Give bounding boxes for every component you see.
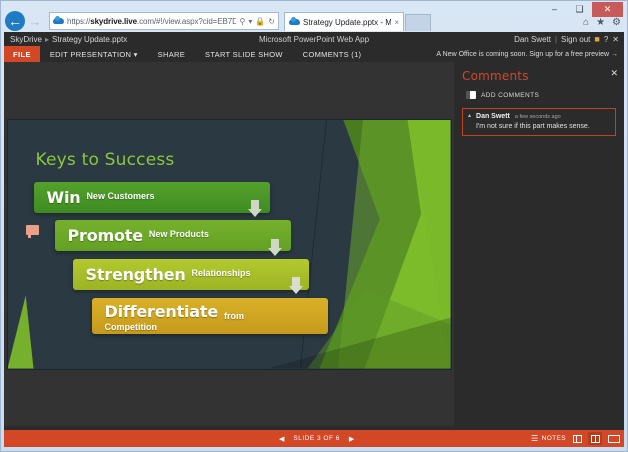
browser-nav-buttons: ← → [5, 11, 45, 31]
window-frame: – ❑ ✕ ← → https://skydrive.live.com/#!/v… [0, 0, 628, 452]
editing-view-icon [573, 435, 582, 443]
reading-view-button[interactable] [588, 432, 602, 445]
browser-window: – ❑ ✕ ← → https://skydrive.live.com/#!/v… [0, 0, 628, 452]
search-icon[interactable]: ⚲ [239, 17, 245, 26]
bar-headline: Strengthen [86, 265, 186, 284]
slide-bar-strengthen: Strengthen Relationships [73, 259, 309, 290]
previous-slide-icon[interactable]: ◀ [279, 435, 284, 443]
comment-marker-icon[interactable] [26, 225, 39, 235]
comments-panel-title: Comments [462, 69, 529, 83]
ribbon-item-edit-presentation[interactable]: EDIT PRESENTATION ▾ [40, 46, 148, 62]
next-slide-icon[interactable]: ▶ [349, 435, 354, 443]
flow-arrow-3-icon [289, 277, 303, 294]
slide-bar-promote: Promote New Products [55, 220, 291, 251]
slide-canvas[interactable]: Keys to Success Win New Customers Promot… [8, 120, 451, 369]
notes-icon: ☰ [531, 434, 539, 443]
comments-panel: Comments ✕ ADD COMMENTS ▴ Dan Swett a fe… [454, 62, 624, 426]
slide-bar-win: Win New Customers [34, 182, 270, 213]
user-area: Dan Swett | Sign out ■ ? ✕ [514, 34, 619, 44]
notes-label: NOTES [542, 435, 566, 442]
add-comment-icon [466, 91, 476, 99]
ribbon-item-comments[interactable]: COMMENTS (1) [293, 46, 372, 62]
ribbon-item-start-slide-show[interactable]: START SLIDE SHOW [195, 46, 293, 62]
bar-detail: from [224, 311, 244, 321]
slide-navigation: ◀ SLIDE 3 OF 6 ▶ [279, 435, 354, 443]
bar-detail: New Customers [86, 191, 154, 201]
person-icon[interactable]: ■ [594, 34, 599, 44]
home-icon[interactable]: ⌂ [583, 17, 589, 28]
browser-titlebar: – ❑ ✕ ← → https://skydrive.live.com/#!/v… [1, 1, 627, 33]
tab-favicon-icon [289, 17, 300, 27]
close-window-button[interactable]: ✕ [592, 2, 623, 17]
chevron-down-icon[interactable]: ▾ [248, 17, 252, 26]
forward-arrow-icon[interactable]: → [25, 11, 45, 31]
back-arrow-icon[interactable]: ← [5, 11, 25, 31]
slide-show-view-button[interactable] [606, 432, 620, 445]
bar-headline: Promote [68, 226, 143, 245]
lock-icon: 🔒 [255, 17, 265, 26]
site-cloud-icon [53, 16, 64, 26]
comment-author: Dan Swett [476, 113, 510, 120]
collapse-triangle-icon[interactable]: ▴ [468, 112, 471, 119]
decor-green-shape-left [8, 296, 34, 369]
comment-timestamp: a few seconds ago [515, 114, 561, 120]
browser-toolbar-icons: ⌂ ★ ⚙ [583, 17, 621, 28]
slide-show-view-icon [608, 435, 618, 443]
address-bar-icons: ⚲ ▾ 🔒 ↻ [239, 17, 275, 26]
promo-link[interactable]: A New Office is coming soon. Sign up for… [436, 46, 618, 62]
notes-button[interactable]: ☰ NOTES [531, 434, 566, 443]
slide-counter: SLIDE 3 OF 6 [293, 435, 339, 442]
slide-title: Keys to Success [36, 150, 175, 170]
window-controls: – ❑ ✕ [542, 2, 623, 17]
status-bar-right: ☰ NOTES [531, 432, 620, 445]
flow-arrow-2-icon [268, 239, 282, 256]
minimize-button[interactable]: – [542, 2, 567, 17]
comment-header: ▴ Dan Swett a few seconds ago [468, 113, 610, 120]
bar-detail: Relationships [192, 268, 251, 278]
bar-headline: Differentiate [105, 302, 219, 321]
favorites-star-icon[interactable]: ★ [596, 17, 605, 28]
ribbon-bar: FILE EDIT PRESENTATION ▾ SHARE START SLI… [4, 46, 624, 62]
slide-stage: Keys to Success Win New Customers Promot… [4, 62, 454, 426]
file-tab[interactable]: FILE [4, 46, 40, 62]
slide-bar-differentiate: Differentiate from Competition [92, 298, 328, 334]
comment-text: I'm not sure if this part makes sense. [468, 123, 610, 130]
refresh-icon[interactable]: ↻ [268, 17, 275, 26]
bar-detail-line2: Competition [105, 322, 328, 332]
address-bar[interactable]: https://skydrive.live.com/#!/view.aspx?c… [49, 12, 279, 30]
close-panel-icon[interactable]: ✕ [610, 68, 618, 79]
flow-arrow-1-icon [248, 200, 262, 217]
maximize-button[interactable]: ❑ [567, 2, 592, 17]
bar-headline: Win [47, 188, 81, 207]
help-icon[interactable]: ? [604, 35, 608, 44]
close-app-icon[interactable]: ✕ [612, 35, 619, 44]
editing-view-button[interactable] [570, 432, 584, 445]
reading-view-icon [591, 435, 600, 443]
ribbon-item-share[interactable]: SHARE [148, 46, 195, 62]
new-tab-button[interactable] [405, 14, 431, 31]
sign-out-link[interactable]: Sign out [561, 35, 590, 44]
address-bar-url: https://skydrive.live.com/#!/view.aspx?c… [67, 17, 236, 26]
status-bar: ◀ SLIDE 3 OF 6 ▶ ☰ NOTES [4, 430, 624, 447]
powerpoint-web-app: SkyDrive ▸ Strategy Update.pptx Microsof… [4, 32, 624, 447]
comment-item[interactable]: ▴ Dan Swett a few seconds ago I'm not su… [462, 108, 616, 136]
browser-tab[interactable]: Strategy Update.pptx - Micr... × [284, 12, 404, 31]
user-name[interactable]: Dan Swett [514, 35, 551, 44]
tab-title: Strategy Update.pptx - Micr... [303, 18, 391, 27]
comments-panel-header: Comments ✕ [462, 67, 616, 85]
settings-gear-icon[interactable]: ⚙ [612, 17, 621, 28]
app-header: SkyDrive ▸ Strategy Update.pptx Microsof… [4, 32, 624, 46]
add-comments-button[interactable]: ADD COMMENTS [462, 91, 616, 99]
app-body: Keys to Success Win New Customers Promot… [4, 62, 624, 426]
user-divider: | [555, 35, 557, 44]
add-comments-label: ADD COMMENTS [481, 92, 539, 99]
tab-close-icon[interactable]: × [394, 18, 399, 27]
bar-detail: New Products [149, 229, 209, 239]
